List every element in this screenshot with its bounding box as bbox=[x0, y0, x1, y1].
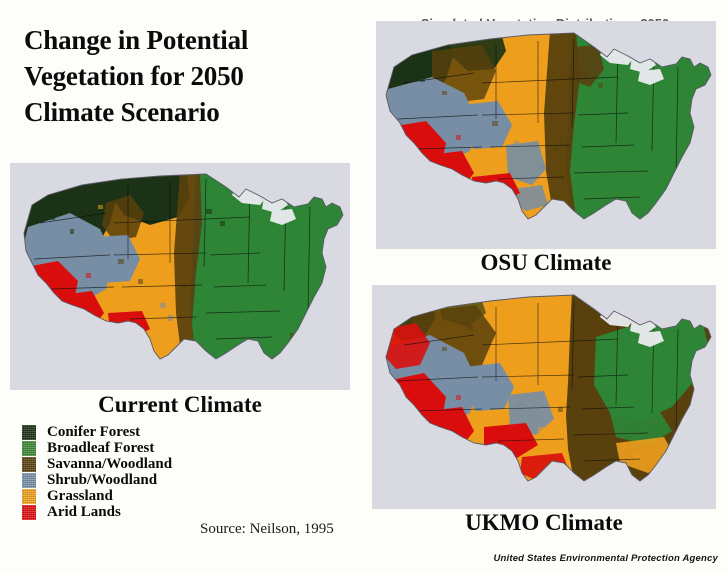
legend-item-arid-lands: Arid Lands bbox=[22, 504, 212, 520]
legend-swatch-broadleaf-forest bbox=[22, 441, 36, 456]
map-image-osu-climate bbox=[376, 21, 716, 249]
map-svg-current-climate bbox=[10, 163, 350, 390]
map-image-ukmo-climate bbox=[372, 285, 716, 509]
page-title: Change in Potential Vegetation for 2050 … bbox=[24, 22, 354, 130]
legend-label-arid-lands: Arid Lands bbox=[47, 504, 121, 520]
map-image-current-climate bbox=[10, 163, 350, 390]
legend-swatch-conifer-forest bbox=[22, 425, 36, 440]
legend-label-broadleaf-forest: Broadleaf Forest bbox=[47, 440, 154, 456]
legend-item-savanna-woodland: Savanna/Woodland bbox=[22, 456, 212, 472]
legend-label-shrub-woodland: Shrub/Woodland bbox=[47, 472, 157, 488]
source-note: Source: Neilson, 1995 bbox=[200, 521, 334, 538]
legend-swatch-shrub-woodland bbox=[22, 473, 36, 488]
legend: Conifer Forest Broadleaf Forest Savanna/… bbox=[22, 424, 212, 520]
map-caption-ukmo-climate: UKMO Climate bbox=[372, 510, 716, 536]
legend-item-shrub-woodland: Shrub/Woodland bbox=[22, 472, 212, 488]
map-svg-ukmo-climate bbox=[372, 285, 716, 509]
legend-swatch-savanna-woodland bbox=[22, 457, 36, 472]
map-caption-osu-climate: OSU Climate bbox=[376, 250, 716, 276]
legend-swatch-arid-lands bbox=[22, 505, 36, 520]
epa-agency-footer: United States Environmental Protection A… bbox=[493, 553, 718, 564]
map-svg-osu-climate bbox=[376, 21, 716, 249]
legend-item-broadleaf-forest: Broadleaf Forest bbox=[22, 440, 212, 456]
legend-item-grassland: Grassland bbox=[22, 488, 212, 504]
legend-item-conifer-forest: Conifer Forest bbox=[22, 424, 212, 440]
legend-label-grassland: Grassland bbox=[47, 488, 113, 504]
map-caption-current-climate: Current Climate bbox=[10, 392, 350, 418]
legend-label-savanna-woodland: Savanna/Woodland bbox=[47, 456, 172, 472]
legend-swatch-grassland bbox=[22, 489, 36, 504]
legend-label-conifer-forest: Conifer Forest bbox=[47, 424, 140, 440]
